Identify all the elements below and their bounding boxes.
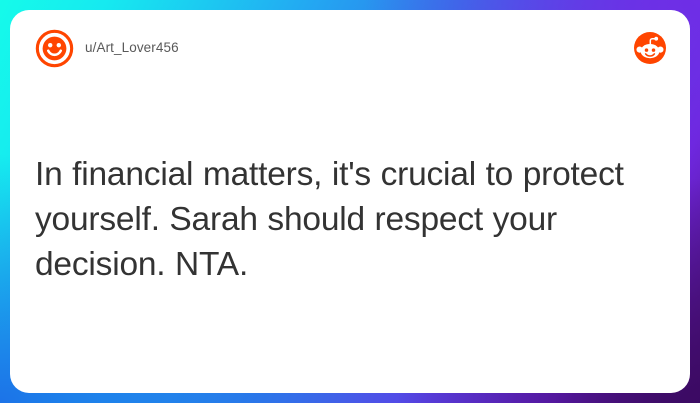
- gradient-background: u/Art_Lover456: [0, 0, 700, 403]
- avatar[interactable]: [35, 29, 74, 68]
- post-header: u/Art_Lover456: [10, 10, 690, 86]
- author-block[interactable]: u/Art_Lover456: [35, 29, 179, 68]
- smiley-face-avatar-icon: [35, 29, 74, 68]
- author-username: u/Art_Lover456: [85, 41, 179, 55]
- reddit-post-card: u/Art_Lover456: [10, 10, 690, 393]
- brand-logo[interactable]: [634, 32, 666, 64]
- post-body: In financial matters, it's crucial to pr…: [35, 152, 669, 287]
- post-text: In financial matters, it's crucial to pr…: [35, 152, 669, 287]
- reddit-snoo-logo-icon: [634, 32, 666, 64]
